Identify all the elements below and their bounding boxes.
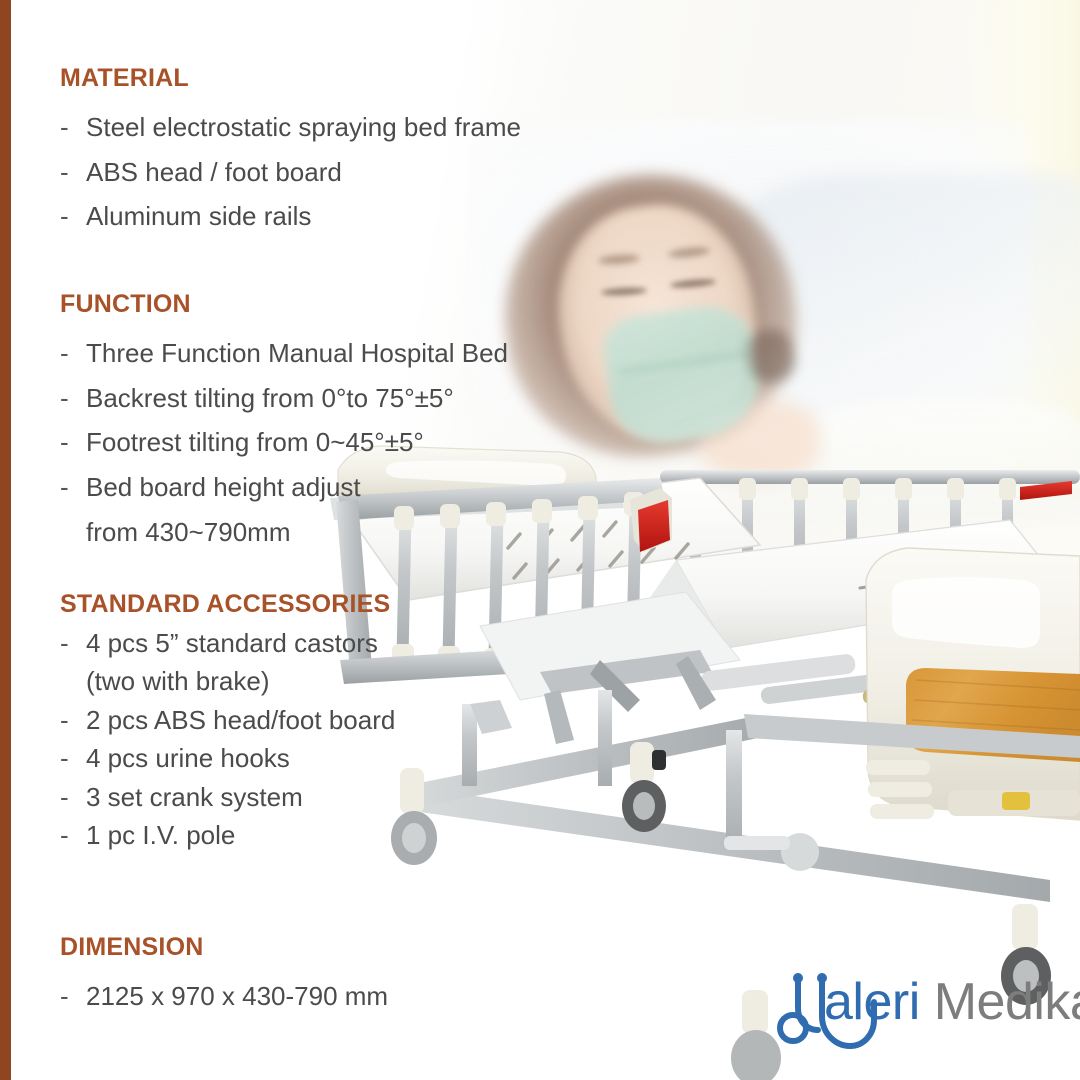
list-item-label: Bed board height adjust [86, 465, 361, 510]
bullet-dash: - [60, 376, 86, 421]
list-item-label: ABS head / foot board [86, 150, 342, 195]
bullet-dash: - [60, 465, 86, 510]
list-item-label: Steel electrostatic spraying bed frame [86, 105, 521, 150]
watermark-logo: aleri Medika [762, 968, 1072, 1072]
list-item: - 2 pcs ABS head/foot board [60, 701, 395, 739]
accessories-list: - 4 pcs 5” standard castors (two with br… [60, 624, 395, 855]
list-item: - 3 set crank system [60, 778, 395, 816]
section-dimension: DIMENSION - 2125 x 970 x 430-790 mm [60, 933, 388, 1019]
section-function: FUNCTION - Three Function Manual Hospita… [60, 290, 508, 555]
dimension-list: - 2125 x 970 x 430-790 mm [60, 974, 388, 1019]
section-title-material: MATERIAL [60, 64, 521, 93]
bullet-dash: - [60, 420, 86, 465]
list-item-label: 4 pcs 5” standard castors [86, 624, 378, 662]
list-item: - ABS head / foot board [60, 150, 521, 195]
list-item-label: Aluminum side rails [86, 194, 311, 239]
bullet-dash: - [60, 778, 86, 816]
list-item-label: 2125 x 970 x 430-790 mm [86, 974, 388, 1019]
list-item: - 1 pc I.V. pole [60, 816, 395, 854]
list-item: - Footrest tilting from 0~45°±5° [60, 420, 508, 465]
list-item-label: Backrest tilting from 0°to 75°±5° [86, 376, 454, 421]
list-item: - 4 pcs urine hooks [60, 739, 395, 777]
bullet-dash: - [60, 739, 86, 777]
list-item: - Bed board height adjust [60, 465, 508, 510]
watermark-text: aleri Medika [824, 972, 1080, 1032]
spec-text-column: MATERIAL - Steel electrostatic spraying … [0, 0, 1080, 1080]
watermark-brand-text: aleri [824, 973, 920, 1031]
section-standard-accessories: STANDARD ACCESSORIES - 4 pcs 5” standard… [60, 590, 395, 855]
section-material: MATERIAL - Steel electrostatic spraying … [60, 64, 521, 239]
list-item-label: Three Function Manual Hospital Bed [86, 331, 508, 376]
list-item-label: Footrest tilting from 0~45°±5° [86, 420, 424, 465]
product-spec-infographic: MATERIAL - Steel electrostatic spraying … [0, 0, 1080, 1080]
list-item-continuation: (two with brake) [60, 662, 395, 700]
bullet-dash: - [60, 194, 86, 239]
bullet-dash: - [60, 624, 86, 662]
bullet-dash: - [60, 816, 86, 854]
function-list: - Three Function Manual Hospital Bed - B… [60, 331, 508, 555]
section-title-standard-accessories: STANDARD ACCESSORIES [60, 590, 395, 619]
bullet-dash: - [60, 701, 86, 739]
list-item-label: 2 pcs ABS head/foot board [86, 701, 395, 739]
watermark-secondary-text: Medika [920, 973, 1080, 1031]
list-item-continuation: from 430~790mm [60, 510, 508, 555]
list-item: - 2125 x 970 x 430-790 mm [60, 974, 388, 1019]
list-item-label: 1 pc I.V. pole [86, 816, 235, 854]
section-title-dimension: DIMENSION [60, 933, 388, 962]
list-item-label: 4 pcs urine hooks [86, 739, 290, 777]
bullet-dash: - [60, 331, 86, 376]
list-item: - Steel electrostatic spraying bed frame [60, 105, 521, 150]
list-item-label: 3 set crank system [86, 778, 303, 816]
section-title-function: FUNCTION [60, 290, 508, 319]
list-item: - Aluminum side rails [60, 194, 521, 239]
bullet-dash: - [60, 150, 86, 195]
bullet-dash: - [60, 105, 86, 150]
left-accent-bar [0, 0, 11, 1080]
list-item: - Backrest tilting from 0°to 75°±5° [60, 376, 508, 421]
list-item: - Three Function Manual Hospital Bed [60, 331, 508, 376]
list-item: - 4 pcs 5” standard castors [60, 624, 395, 662]
bullet-dash: - [60, 974, 86, 1019]
material-list: - Steel electrostatic spraying bed frame… [60, 105, 521, 239]
